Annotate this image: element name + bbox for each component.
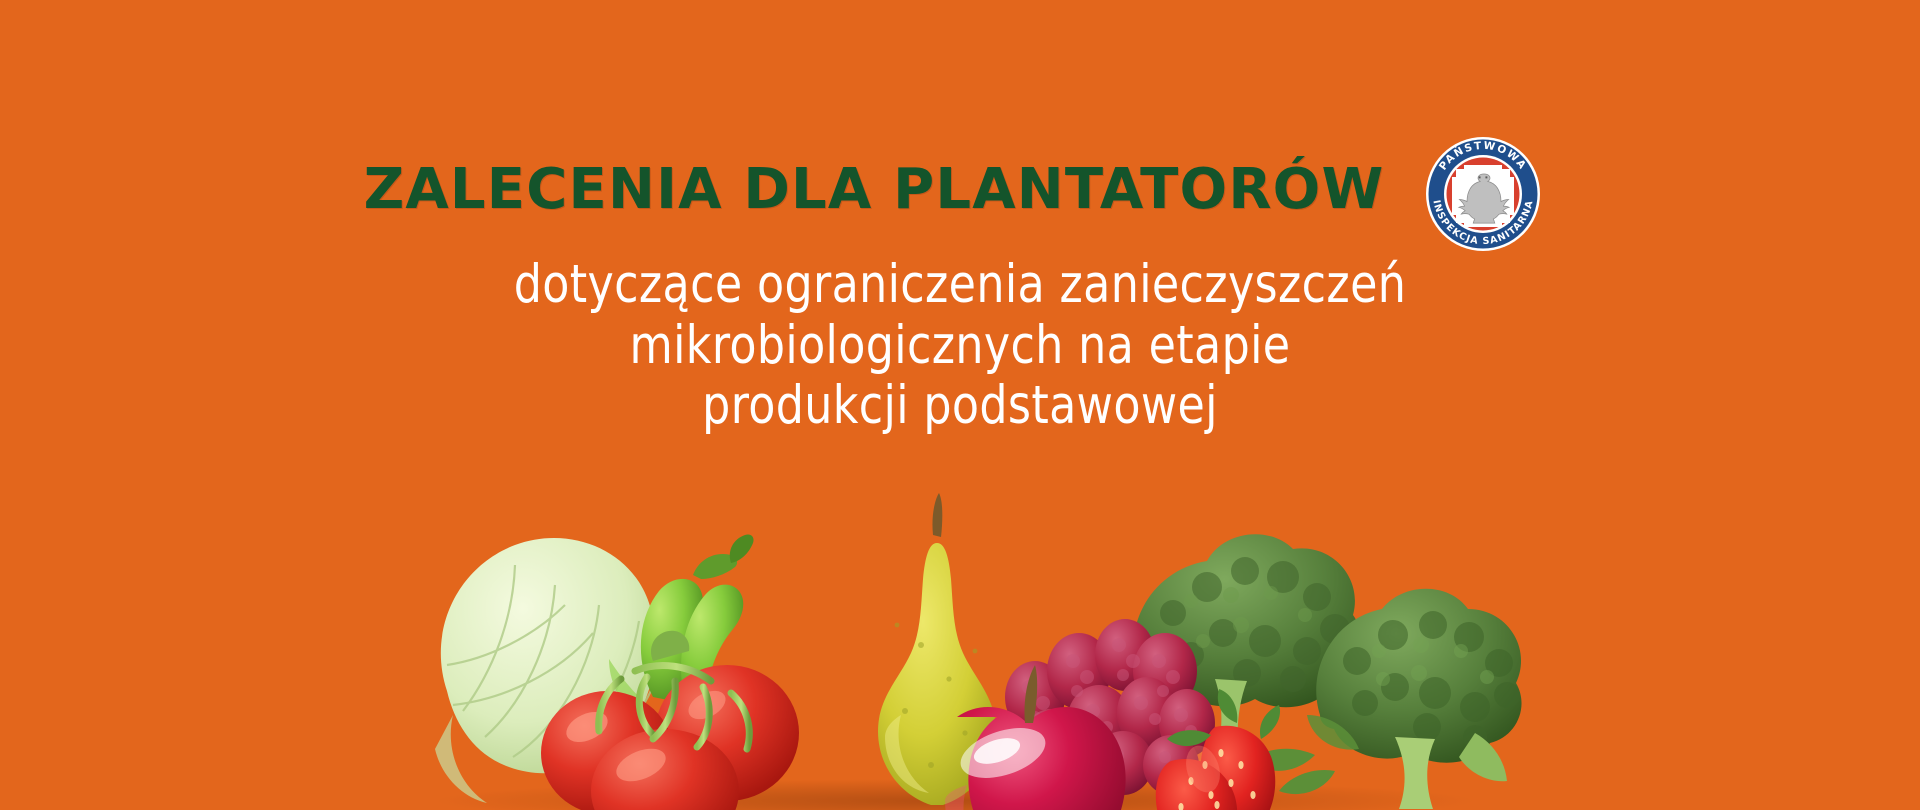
subtitle: dotyczące ograniczenia zanieczyszczeń mi… [67, 255, 1853, 437]
logo-container: PAŃSTWOWA INSPEKCJA SANITARNA [1410, 128, 1556, 252]
page-title: ZALECENIA DLA PLANTATORÓW [364, 162, 1385, 218]
slide-root: ZALECENIA DLA PLANTATORÓW [0, 0, 1920, 810]
subtitle-line-3: produkcji podstawowej [67, 376, 1853, 437]
produce-image [335, 465, 1585, 810]
header: ZALECENIA DLA PLANTATORÓW [0, 128, 1920, 252]
subtitle-line-1: dotyczące ograniczenia zanieczyszczeń [67, 255, 1853, 316]
panstwowa-inspekcja-sanitarna-logo: PAŃSTWOWA INSPEKCJA SANITARNA [1418, 128, 1548, 252]
pear-stem [932, 493, 942, 537]
subtitle-line-2: mikrobiologicznych na etapie [67, 316, 1853, 377]
produce-illustration [335, 465, 1585, 810]
